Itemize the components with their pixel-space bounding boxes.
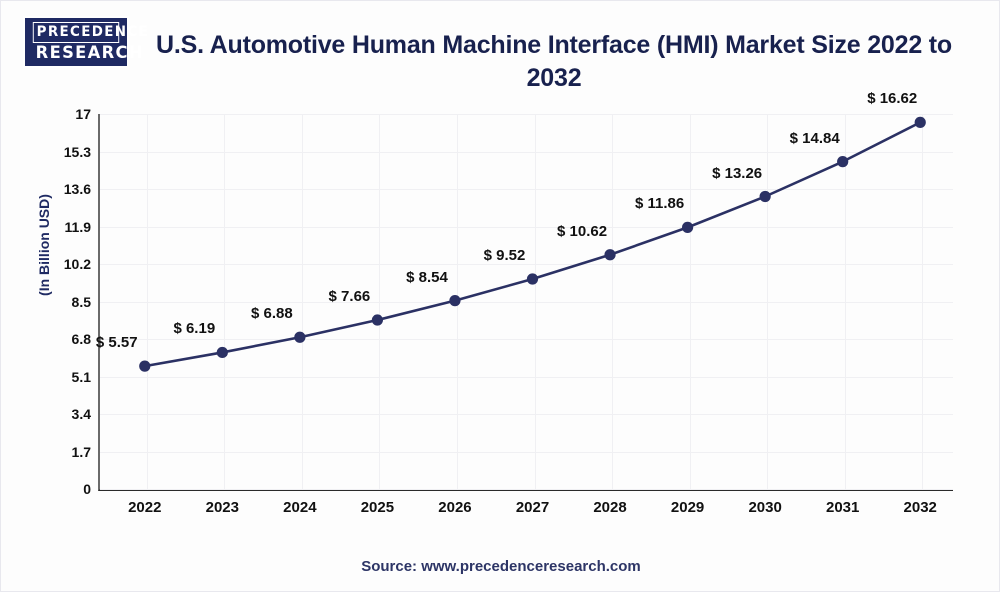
gridline-vertical	[845, 114, 846, 489]
y-axis-tick: 15.3	[31, 144, 91, 160]
gridline-vertical	[612, 114, 613, 489]
x-axis-tick: 2023	[182, 499, 262, 516]
data-point-label: $ 9.52	[450, 247, 560, 264]
x-axis-tick: 2029	[648, 499, 728, 516]
source-caption: Source: www.precedenceresearch.com	[1, 558, 1000, 575]
gridline-horizontal	[100, 114, 953, 115]
chart-title: U.S. Automotive Human Machine Interface …	[141, 29, 967, 95]
x-axis-tick: 2024	[260, 499, 340, 516]
data-point-label: $ 7.66	[294, 288, 404, 305]
x-axis-tick: 2022	[105, 499, 185, 516]
gridline-vertical	[922, 114, 923, 489]
y-axis-title: (In Billion USD)	[36, 175, 52, 315]
chart-image: PRECEDENCE RESEARCH U.S. Automotive Huma…	[0, 0, 1000, 592]
data-point-label: $ 11.86	[605, 195, 715, 212]
x-axis-tick: 2027	[493, 499, 573, 516]
gridline-horizontal	[100, 489, 953, 490]
data-point-label: $ 14.84	[760, 130, 870, 147]
data-point-label: $ 10.62	[527, 223, 637, 240]
gridline-vertical	[535, 114, 536, 489]
data-point-label: $ 6.88	[217, 305, 327, 322]
gridline-horizontal	[100, 377, 953, 378]
x-axis-tick-labels: 2022202320242025202620272028202920302031…	[98, 499, 951, 523]
x-axis-tick: 2030	[725, 499, 805, 516]
data-point-label: $ 8.54	[372, 269, 482, 286]
x-axis-tick: 2026	[415, 499, 495, 516]
y-axis-tick: 0	[31, 481, 91, 497]
data-point-label: $ 13.26	[682, 165, 792, 182]
logo-line-research: RESEARCH	[33, 45, 119, 62]
gridline-horizontal	[100, 302, 953, 303]
gridline-horizontal	[100, 264, 953, 265]
plot-area	[98, 114, 953, 491]
gridline-horizontal	[100, 189, 953, 190]
y-axis-tick: 17	[31, 106, 91, 122]
gridline-horizontal	[100, 152, 953, 153]
logo-line-precedence: PRECEDENCE	[33, 22, 119, 43]
x-axis-tick: 2025	[337, 499, 417, 516]
precedence-research-logo: PRECEDENCE RESEARCH	[23, 16, 129, 68]
gridline-horizontal	[100, 339, 953, 340]
data-point-label: $ 6.19	[139, 320, 249, 337]
gridline-horizontal	[100, 414, 953, 415]
y-axis-tick: 5.1	[31, 369, 91, 385]
gridline-vertical	[457, 114, 458, 489]
x-axis-tick: 2031	[803, 499, 883, 516]
x-axis-tick: 2032	[880, 499, 960, 516]
x-axis-tick: 2028	[570, 499, 650, 516]
data-point-label: $ 16.62	[837, 90, 947, 107]
gridline-vertical	[224, 114, 225, 489]
gridline-horizontal	[100, 452, 953, 453]
y-axis-tick: 1.7	[31, 444, 91, 460]
y-axis-tick: 3.4	[31, 406, 91, 422]
gridline-vertical	[147, 114, 148, 489]
